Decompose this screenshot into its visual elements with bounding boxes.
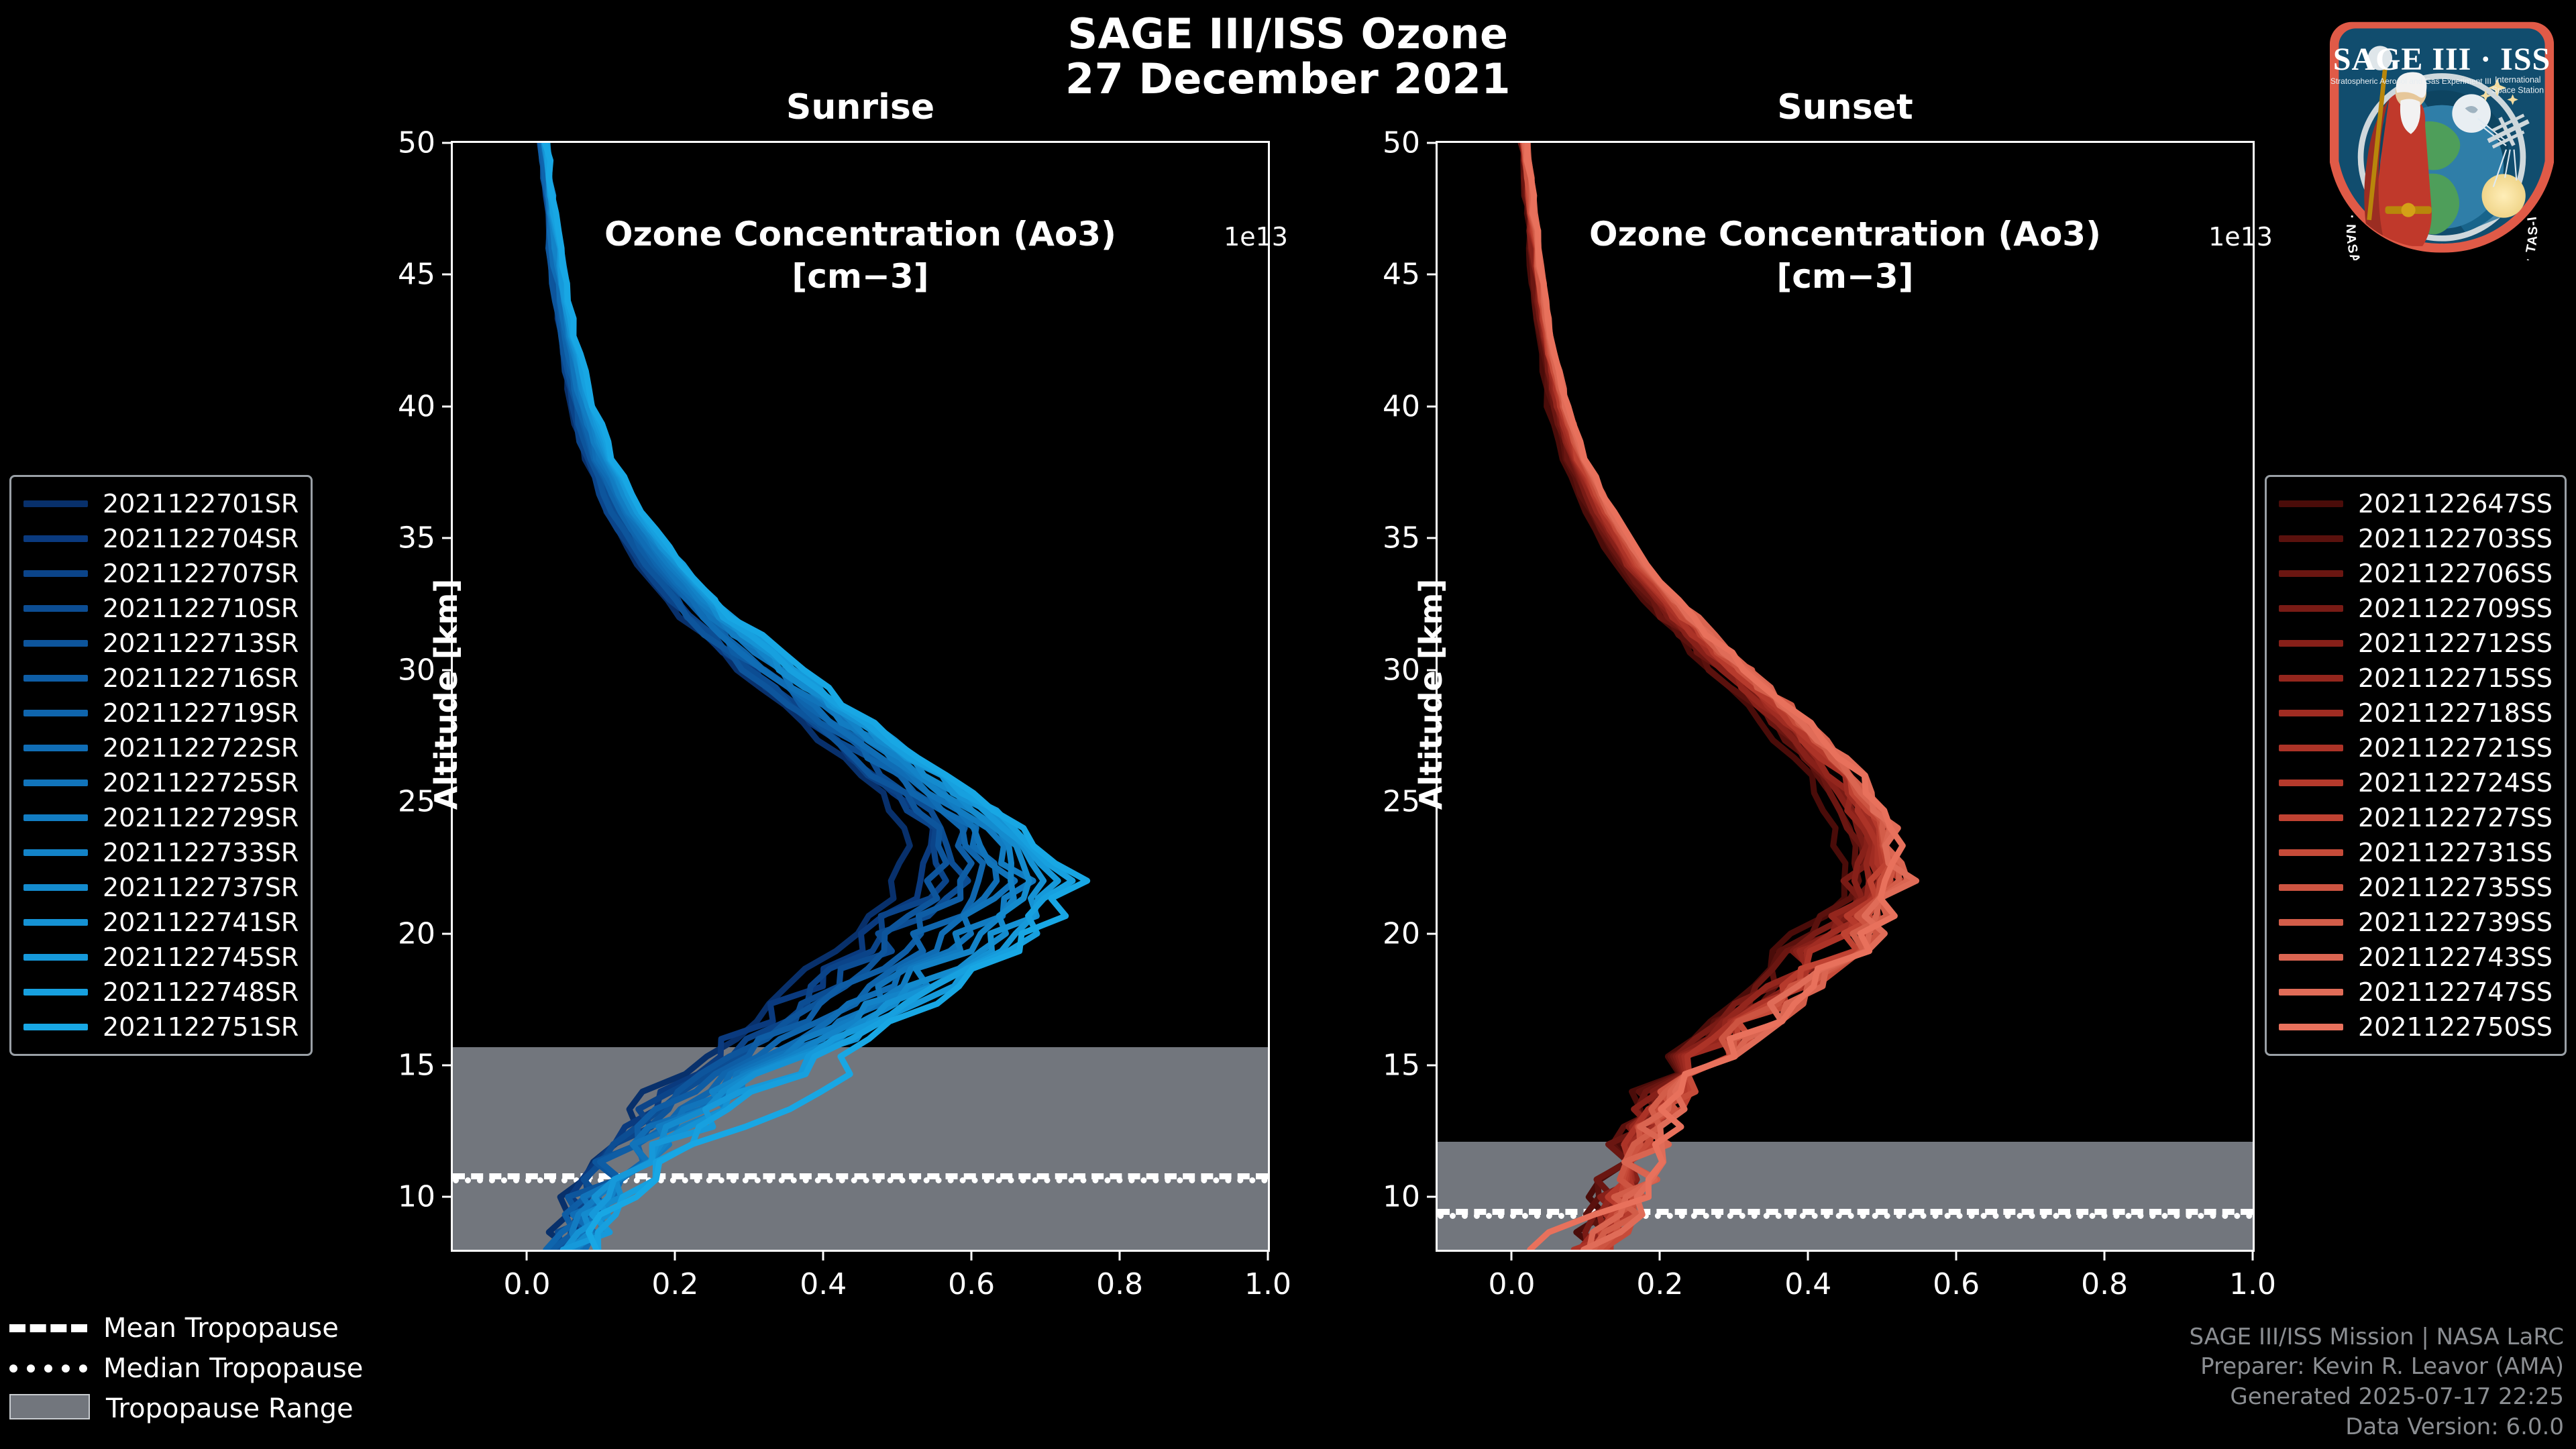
legend-item-label: 2021122704SR: [103, 524, 299, 553]
ozone-profile-line: [1527, 143, 1902, 1250]
plot-area-sunset: 101520253035404550 0.00.20.40.60.81.0 Al…: [1436, 141, 2255, 1252]
legend-tropopause-item: Mean Tropopause: [9, 1308, 363, 1348]
legend-sunset-item[interactable]: 2021122735SS: [2279, 870, 2553, 905]
panel-title-sunrise: Sunrise: [451, 87, 1270, 127]
y-axis-label-sunrise: Altitude [km]: [428, 574, 464, 815]
legend-sunset-item[interactable]: 2021122718SS: [2279, 696, 2553, 731]
legend-color-swatch: [2279, 1024, 2343, 1030]
ozone-profile-line: [1524, 143, 1890, 1250]
ozone-profile-line: [541, 143, 972, 1250]
logo-title: SAGE III · ISS: [2333, 42, 2551, 77]
legend-color-swatch: [23, 640, 88, 647]
ozone-profile-curves-sunset: [1438, 143, 2253, 1250]
y-tick-mark: [1427, 537, 1438, 539]
x-axis-exponent-sunrise: 1e13: [1224, 222, 1288, 252]
legend-tropopause-item: Tropopause Range: [9, 1389, 363, 1429]
legend-item-label: 2021122737SR: [103, 873, 299, 902]
legend-color-swatch: [23, 710, 88, 716]
legend-item-label: 2021122712SS: [2358, 629, 2553, 658]
legend-item-label: 2021122731SS: [2358, 838, 2553, 867]
x-axis-label-sunrise: Ozone Concentration (Ao3) [cm−3]: [453, 213, 1268, 297]
legend-sunset-item[interactable]: 2021122727SS: [2279, 800, 2553, 835]
legend-tropopause: Mean TropopauseMedian TropopauseTropopau…: [9, 1308, 363, 1429]
legend-item-label: 2021122751SR: [103, 1012, 299, 1042]
title-line-1: SAGE III/ISS Ozone: [0, 12, 2576, 57]
legend-item-label: 2021122706SS: [2358, 559, 2553, 588]
legend-color-swatch: [2279, 989, 2343, 996]
legend-color-swatch: [23, 500, 88, 507]
legend-item-label: 2021122724SS: [2358, 768, 2553, 798]
legend-color-swatch: [23, 989, 88, 996]
y-tick-mark: [1427, 142, 1438, 144]
legend-tropopause-label: Mean Tropopause: [103, 1313, 339, 1344]
ozone-profile-line: [1524, 143, 1907, 1250]
legend-sunrise-item[interactable]: 2021122704SR: [23, 521, 299, 556]
panel-title-sunset: Sunset: [1436, 87, 2255, 127]
ozone-profile-line: [1527, 143, 1899, 1250]
legend-item-label: 2021122715SS: [2358, 663, 2553, 693]
legend-color-swatch: [2279, 745, 2343, 751]
x-tick-mark: [971, 1250, 973, 1260]
ozone-profile-line: [1524, 143, 1891, 1250]
legend-color-swatch: [2279, 814, 2343, 821]
x-axis-label-sunrise-line2: [cm−3]: [453, 256, 1268, 298]
legend-color-swatch: [2279, 570, 2343, 577]
legend-color-swatch: [23, 919, 88, 926]
x-axis-label-sunrise-line1: Ozone Concentration (Ao3): [453, 213, 1268, 256]
legend-color-swatch: [23, 675, 88, 682]
legend-sunset-item[interactable]: 2021122724SS: [2279, 765, 2553, 800]
y-tick-mark: [442, 1196, 453, 1198]
credits-line-1: SAGE III/ISS Mission | NASA LaRC: [2189, 1322, 2564, 1352]
legend-tropopause-item: Median Tropopause: [9, 1348, 363, 1389]
legend-color-swatch: [23, 814, 88, 821]
legend-color-swatch: [2279, 500, 2343, 507]
legend-sunset-item[interactable]: 2021122647SS: [2279, 486, 2553, 521]
legend-sunset-item[interactable]: 2021122715SS: [2279, 661, 2553, 696]
y-tick-mark: [442, 1065, 453, 1067]
legend-item-label: 2021122710SR: [103, 594, 299, 623]
legend-color-swatch: [23, 780, 88, 786]
mean-tropopause-swatch: [9, 1321, 87, 1336]
legend-sunrise-item[interactable]: 2021122713SR: [23, 626, 299, 661]
legend-sunrise-item[interactable]: 2021122741SR: [23, 905, 299, 940]
legend-sunset-item[interactable]: 2021122706SS: [2279, 556, 2553, 591]
ozone-profile-line: [1524, 143, 1868, 1250]
y-tick-mark: [1427, 932, 1438, 934]
legend-color-swatch: [23, 1024, 88, 1030]
legend-item-label: 2021122703SS: [2358, 524, 2553, 553]
legend-item-label: 2021122727SS: [2358, 803, 2553, 833]
legend-item-label: 2021122750SS: [2358, 1012, 2553, 1042]
x-tick-mark: [1267, 1250, 1269, 1260]
x-tick-mark: [1659, 1250, 1661, 1260]
legend-color-swatch: [23, 570, 88, 577]
legend-item-label: 2021122713SR: [103, 629, 299, 658]
legend-item-label: 2021122709SS: [2358, 594, 2553, 623]
legend-sunset-item[interactable]: 2021122750SS: [2279, 1010, 2553, 1044]
legend-color-swatch: [23, 954, 88, 961]
ozone-profile-curves-sunrise: [453, 143, 1268, 1250]
ozone-profile-line: [1525, 143, 1916, 1250]
legend-color-swatch: [2279, 780, 2343, 786]
ozone-profile-line: [1523, 143, 1869, 1250]
legend-sunrise-item[interactable]: 2021122748SR: [23, 975, 299, 1010]
legend-color-swatch: [2279, 919, 2343, 926]
legend-item-label: 2021122739SS: [2358, 908, 2553, 937]
legend-sunset-item[interactable]: 2021122712SS: [2279, 626, 2553, 661]
legend-sunrise[interactable]: 2021122701SR2021122704SR2021122707SR2021…: [9, 475, 313, 1056]
x-axis-label-sunset: Ozone Concentration (Ao3) [cm−3]: [1438, 213, 2253, 297]
ozone-profile-line: [1521, 143, 1874, 1250]
legend-item-label: 2021122721SS: [2358, 733, 2553, 763]
legend-sunset-item[interactable]: 2021122731SS: [2279, 835, 2553, 870]
legend-color-swatch: [2279, 954, 2343, 961]
x-tick-mark: [674, 1250, 676, 1260]
legend-sunrise-item[interactable]: 2021122707SR: [23, 556, 299, 591]
legend-sunrise-item[interactable]: 2021122751SR: [23, 1010, 299, 1044]
credits-block: SAGE III/ISS Mission | NASA LaRC Prepare…: [2189, 1322, 2564, 1443]
legend-sunset-item[interactable]: 2021122747SS: [2279, 975, 2553, 1010]
x-tick-mark: [2252, 1250, 2254, 1260]
x-axis-label-sunset-line2: [cm−3]: [1438, 256, 2253, 298]
y-tick-mark: [1427, 1065, 1438, 1067]
legend-tropopause-label: Median Tropopause: [103, 1353, 363, 1384]
legend-sunrise-item[interactable]: 2021122719SR: [23, 696, 299, 731]
median-tropopause-swatch: [9, 1361, 87, 1376]
legend-sunset-item[interactable]: 2021122743SS: [2279, 940, 2553, 975]
y-axis-label-sunset: Altitude [km]: [1413, 574, 1449, 815]
legend-item-label: 2021122701SR: [103, 489, 299, 519]
x-tick-mark: [1119, 1250, 1121, 1260]
legend-item-label: 2021122748SR: [103, 977, 299, 1007]
legend-item-label: 2021122722SR: [103, 733, 299, 763]
legend-color-swatch: [2279, 605, 2343, 612]
legend-color-swatch: [23, 884, 88, 891]
legend-sunset-item[interactable]: 2021122709SS: [2279, 591, 2553, 626]
ozone-profile-line: [542, 143, 968, 1250]
x-tick-mark: [2104, 1250, 2106, 1260]
legend-sunset-item[interactable]: 2021122721SS: [2279, 731, 2553, 765]
x-tick-mark: [526, 1250, 528, 1260]
logo-subtitle-right-line2: Space Station: [2491, 85, 2544, 95]
sage-iii-iss-mission-patch-logo: SAGE III · ISS Stratospheric Aerosol and…: [2313, 3, 2571, 260]
credits-line-3: Generated 2025-07-17 22:25: [2189, 1382, 2564, 1412]
logo-moon: [2452, 94, 2491, 133]
legend-item-label: 2021122725SR: [103, 768, 299, 798]
x-tick-mark: [1511, 1250, 1513, 1260]
x-tick-mark: [1955, 1250, 1957, 1260]
legend-item-label: 2021122707SR: [103, 559, 299, 588]
y-tick-mark: [442, 274, 453, 276]
logo-subtitle-left: Stratospheric Aerosol and Gas Experiment…: [2330, 76, 2491, 86]
legend-color-swatch: [23, 605, 88, 612]
legend-item-label: 2021122718SS: [2358, 698, 2553, 728]
legend-sunrise-item[interactable]: 2021122710SR: [23, 591, 299, 626]
legend-color-swatch: [23, 535, 88, 542]
legend-sunrise-item[interactable]: 2021122737SR: [23, 870, 299, 905]
legend-item-label: 2021122716SR: [103, 663, 299, 693]
legend-tropopause-label: Tropopause Range: [106, 1393, 354, 1424]
y-tick-mark: [1427, 1196, 1438, 1198]
legend-color-swatch: [2279, 849, 2343, 856]
legend-sunset-item[interactable]: 2021122703SS: [2279, 521, 2553, 556]
legend-sunrise-item[interactable]: 2021122725SR: [23, 765, 299, 800]
y-tick-mark: [1427, 274, 1438, 276]
y-tick-mark: [442, 932, 453, 934]
legend-sunrise-item[interactable]: 2021122716SR: [23, 661, 299, 696]
legend-color-swatch: [2279, 675, 2343, 682]
legend-sunrise-item[interactable]: 2021122722SR: [23, 731, 299, 765]
ozone-profile-line: [1525, 143, 1895, 1250]
tropopause-range-swatch: [9, 1394, 90, 1419]
legend-item-label: 2021122741SR: [103, 908, 299, 937]
credits-line-4: Data Version: 6.0.0: [2189, 1412, 2564, 1442]
ozone-profile-line: [1523, 143, 1889, 1250]
legend-item-label: 2021122647SS: [2358, 489, 2553, 519]
legend-sunrise-item[interactable]: 2021122733SR: [23, 835, 299, 870]
legend-sunset-item[interactable]: 2021122739SS: [2279, 905, 2553, 940]
legend-color-swatch: [2279, 535, 2343, 542]
y-tick-mark: [1427, 405, 1438, 407]
plot-clip-sunset: [1438, 143, 2253, 1250]
legend-item-label: 2021122735SS: [2358, 873, 2553, 902]
legend-item-label: 2021122733SR: [103, 838, 299, 867]
ozone-profile-line: [1523, 143, 1880, 1250]
credits-line-2: Preparer: Kevin R. Leavor (AMA): [2189, 1352, 2564, 1382]
dotted-line-icon: [9, 1364, 87, 1373]
legend-sunset[interactable]: 2021122647SS2021122703SS2021122706SS2021…: [2265, 475, 2567, 1056]
legend-sunrise-item[interactable]: 2021122729SR: [23, 800, 299, 835]
plot-area-sunrise: 101520253035404550 0.00.20.40.60.81.0 Al…: [451, 141, 1270, 1252]
legend-color-swatch: [23, 745, 88, 751]
legend-sunrise-item[interactable]: 2021122701SR: [23, 486, 299, 521]
legend-item-label: 2021122745SR: [103, 943, 299, 972]
x-tick-mark: [822, 1250, 824, 1260]
x-axis-label-sunset-line1: Ozone Concentration (Ao3): [1438, 213, 2253, 256]
x-tick-mark: [1807, 1250, 1809, 1260]
legend-color-swatch: [23, 849, 88, 856]
plot-clip-sunrise: [453, 143, 1268, 1250]
legend-color-swatch: [2279, 710, 2343, 716]
legend-color-swatch: [2279, 884, 2343, 891]
y-tick-mark: [442, 142, 453, 144]
logo-sun: [2482, 174, 2526, 217]
legend-color-swatch: [2279, 640, 2343, 647]
logo-subtitle-right-line1: International: [2495, 75, 2541, 85]
dashed-line-icon: [9, 1324, 87, 1332]
y-tick-mark: [442, 405, 453, 407]
legend-item-label: 2021122743SS: [2358, 943, 2553, 972]
legend-sunrise-item[interactable]: 2021122745SR: [23, 940, 299, 975]
legend-item-label: 2021122719SR: [103, 698, 299, 728]
ozone-profile-line: [1525, 143, 1902, 1250]
legend-item-label: 2021122747SS: [2358, 977, 2553, 1007]
x-axis-exponent-sunset: 1e13: [2208, 222, 2273, 252]
legend-item-label: 2021122729SR: [103, 803, 299, 833]
y-tick-mark: [442, 537, 453, 539]
ozone-profile-line: [1524, 143, 1872, 1250]
